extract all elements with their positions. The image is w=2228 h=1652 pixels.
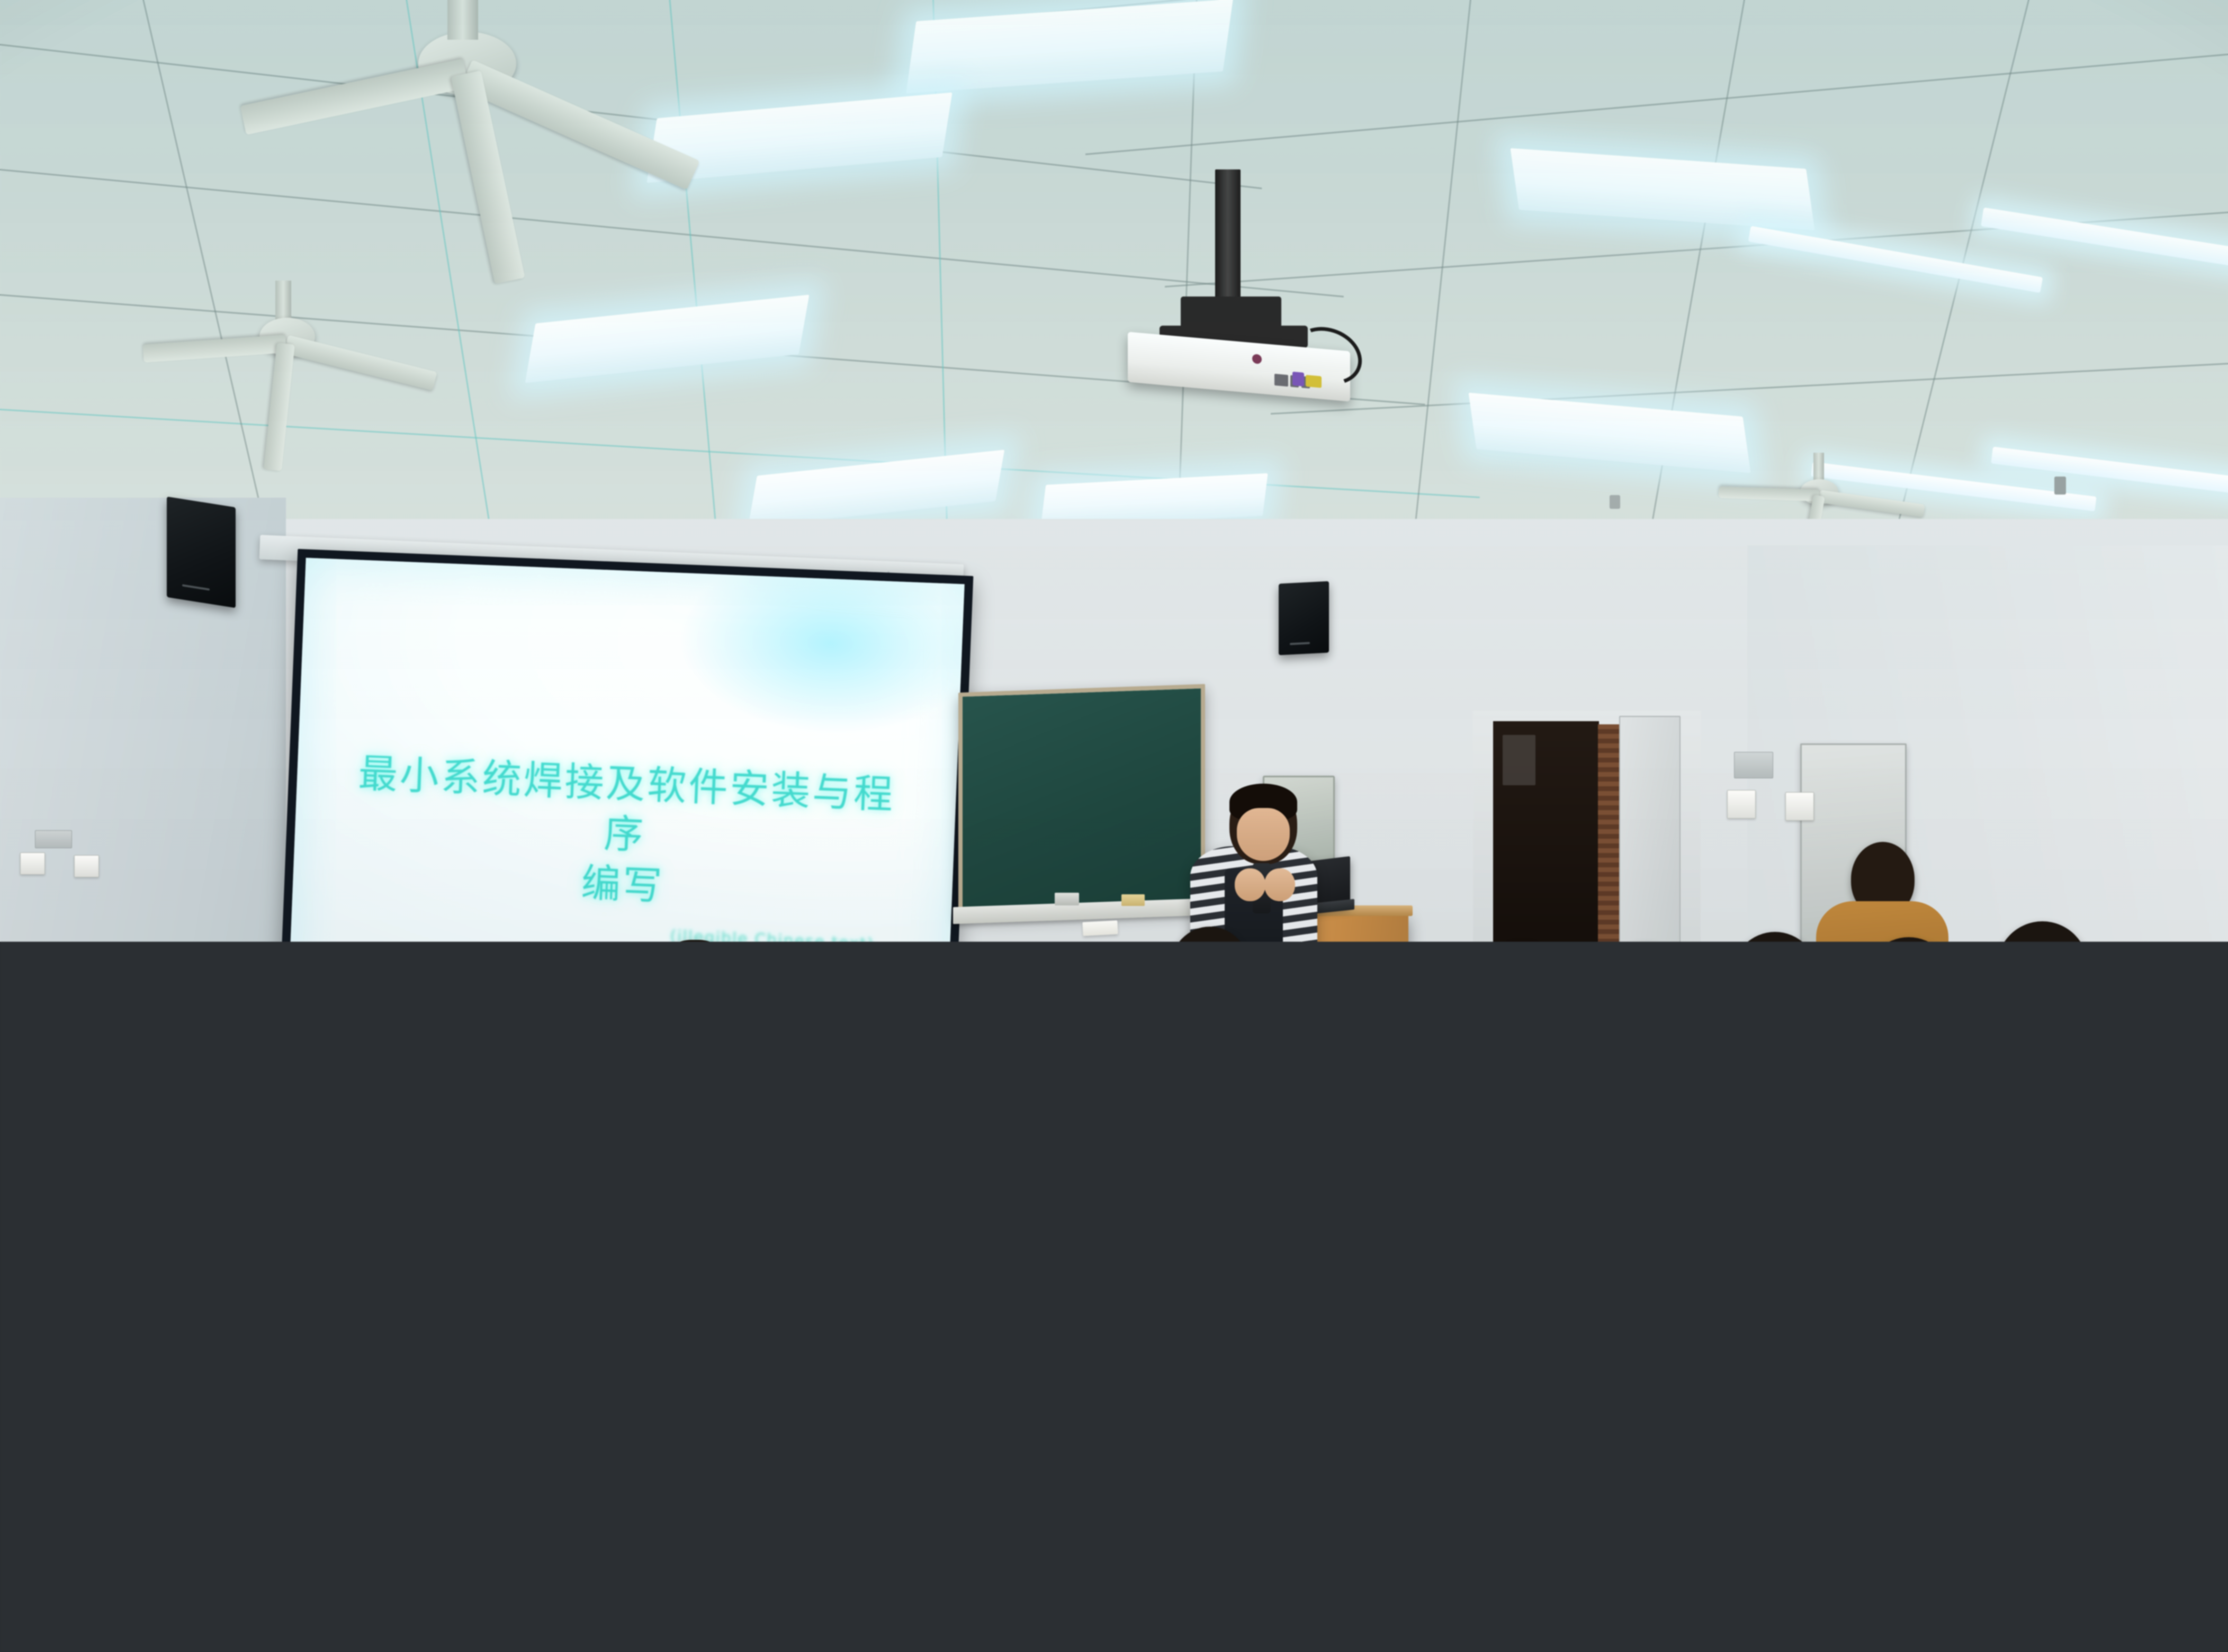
head [942,948,1027,1037]
ceiling-sensor [2054,477,2066,495]
glasses [201,986,232,989]
ceiling-panel-light [1511,148,1815,230]
jacket-mascot-print [1625,1105,1673,1169]
glasses [1541,984,1570,986]
classroom-photo: brand 最小系统焊接及软件安装与程序 编写 (illegible Chine… [0,0,2228,1652]
hair-clip [413,1035,427,1042]
head [138,948,228,1040]
ceiling-panel-light [525,294,809,383]
presenter-hand-right [1264,868,1295,901]
hood [424,1277,635,1378]
water-bottle[interactable] [1731,1009,1757,1072]
wall-plate [35,830,72,848]
chalkboard-eraser[interactable] [1055,893,1079,905]
slide-title: 最小系统焊接及软件安装与程序 编写 [338,748,911,921]
head [649,940,741,1054]
glasses [2176,996,2208,999]
ceiling-panel-light [906,0,1233,94]
wall-outlet[interactable] [1785,792,1814,821]
presenter-hand-left [1235,868,1265,901]
ceiling-tube-light [1981,208,2228,278]
paper-sheet [778,1300,880,1337]
light-switch[interactable] [20,852,45,875]
wall-speaker [167,497,236,608]
projection-screen: 最小系统焊接及软件安装与程序 编写 (illegible Chinese tex… [280,549,974,1022]
glasses [1790,970,1819,973]
wall-outlet[interactable] [1958,978,1977,1001]
paper-sheet [773,1067,797,1114]
blackboard [958,684,1205,918]
wall-speaker [1279,581,1329,656]
hood [852,1304,1043,1396]
wall-outlet[interactable] [1727,790,1756,819]
door-window [1503,735,1535,785]
screen-hotspot [675,558,965,739]
slide-surface: 最小系统焊接及软件安装与程序 编写 (illegible Chinese tex… [289,558,965,1012]
torso [0,1265,238,1652]
paper-sheet [1281,1073,1361,1100]
ceiling-panel-light [1468,392,1750,473]
backpack [246,1098,401,1237]
phone[interactable] [706,1222,741,1242]
chalk-box[interactable] [1121,894,1145,906]
head [1477,942,1567,1035]
light-switch[interactable] [74,855,99,877]
head [1927,1059,2033,1169]
head [1430,1138,1557,1277]
presenter-face [1237,808,1290,861]
wall-plate [1734,752,1773,778]
glasses [1921,1116,1957,1119]
glasses [1272,1071,1305,1073]
ceiling-sensor [1610,495,1620,509]
stray-paper [1082,920,1118,936]
presenter-head [1229,784,1297,864]
bag [606,1192,708,1270]
cardboard-box [661,1053,732,1113]
